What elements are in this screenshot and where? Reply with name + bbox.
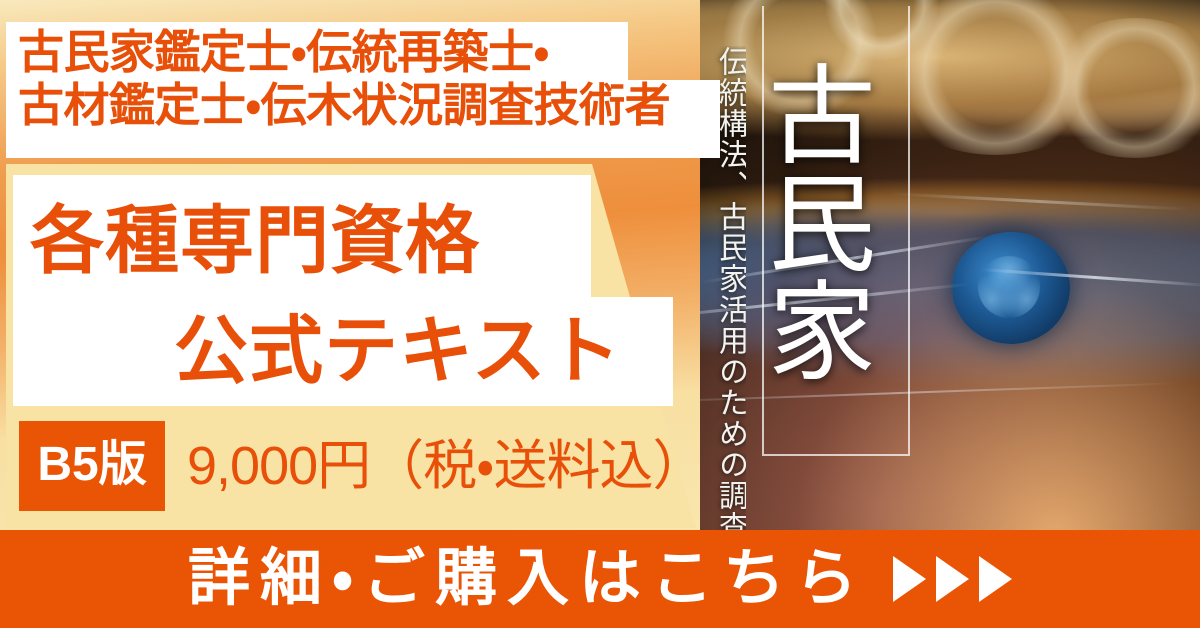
triangle-right-icon	[936, 556, 969, 602]
triangle-right-icon	[979, 556, 1012, 602]
page-title: 各種専門資格 公式テキスト	[22, 186, 672, 405]
headline-line-2: 公式テキスト	[22, 296, 672, 406]
price-amount: 9,000円（税・送料込）	[187, 439, 706, 493]
triangle-right-icon	[893, 556, 926, 602]
cta-label: 詳細・ご購入はこちら	[188, 548, 867, 610]
format-badge: B5版	[19, 421, 165, 511]
qualifications-list-text: 古民家鑑定士・伝統再築士・ 古材鑑定士・伝木状況調査技術者	[18, 26, 718, 133]
cta-arrows-group	[893, 556, 1012, 602]
cta-button-bar[interactable]: 詳細・ご購入はこちら	[0, 530, 1200, 628]
promo-banner[interactable]: 伝統構法、古民家活用のための調査と再生の 古民家 古民家鑑定士・伝統再築士・ 古…	[0, 0, 1200, 628]
price-row: B5版 9,000円（税・送料込）	[19, 421, 706, 511]
headline-line-1: 各種専門資格	[22, 186, 672, 296]
blue-tile-medallion	[952, 232, 1070, 344]
book-cover-title: 古民家	[768, 4, 904, 450]
